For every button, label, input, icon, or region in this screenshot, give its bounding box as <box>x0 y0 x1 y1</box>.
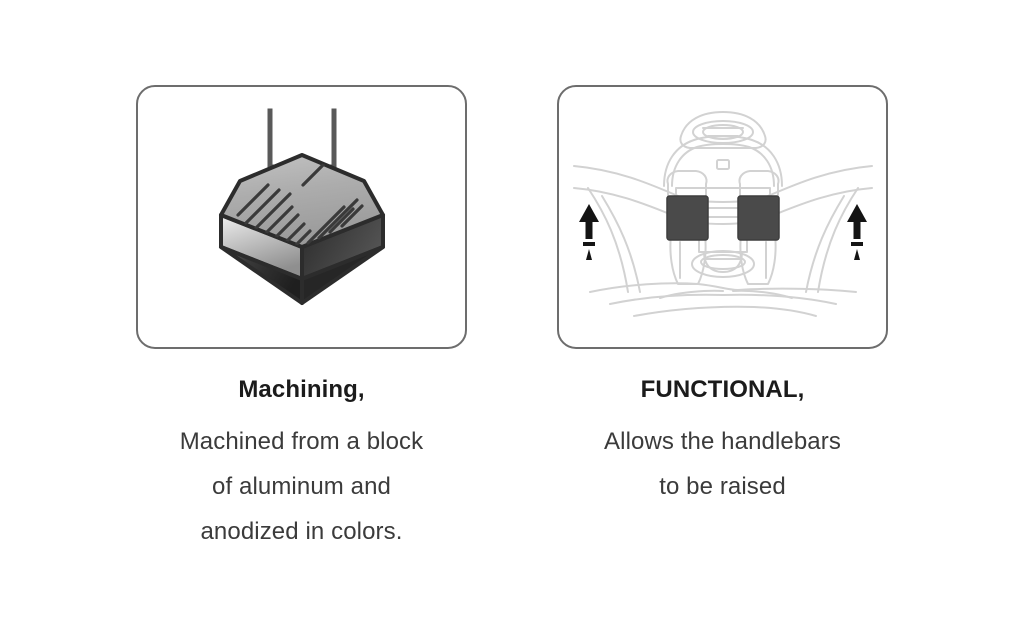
feature-title: Machining, <box>129 375 474 405</box>
riser-block-right <box>738 196 779 240</box>
caption-machining: Machining, Machined from a block of alum… <box>129 375 474 554</box>
feature-title: FUNCTIONAL, <box>550 375 895 405</box>
feature-body: Machined from a block of aluminum and an… <box>129 419 474 554</box>
feature-machining: Machining, Machined from a block of alum… <box>135 85 469 554</box>
feature-functional: FUNCTIONAL, Allows the handlebars to be … <box>556 85 890 509</box>
icon-card-functional <box>557 85 888 349</box>
icon-card-machining <box>136 85 467 349</box>
body-line: anodized in colors. <box>129 509 474 554</box>
body-line: Machined from a block <box>129 419 474 464</box>
motorcycle-cockpit-outline <box>574 112 872 316</box>
up-arrow-left-icon <box>579 204 599 260</box>
body-line: Allows the handlebars <box>550 419 895 464</box>
up-arrow-right-icon <box>847 204 867 260</box>
riser-block-left <box>667 196 708 240</box>
handlebar-riser-icon <box>568 92 878 342</box>
feature-cards-page: Machining, Machined from a block of alum… <box>0 0 1024 626</box>
body-line: of aluminum and <box>129 464 474 509</box>
features-row: Machining, Machined from a block of alum… <box>0 0 1024 626</box>
aluminum-block-icon <box>221 155 383 303</box>
cnc-milling-machine-icon <box>152 97 452 337</box>
feature-body: Allows the handlebars to be raised <box>550 419 895 509</box>
caption-functional: FUNCTIONAL, Allows the handlebars to be … <box>550 375 895 509</box>
body-line: to be raised <box>550 464 895 509</box>
